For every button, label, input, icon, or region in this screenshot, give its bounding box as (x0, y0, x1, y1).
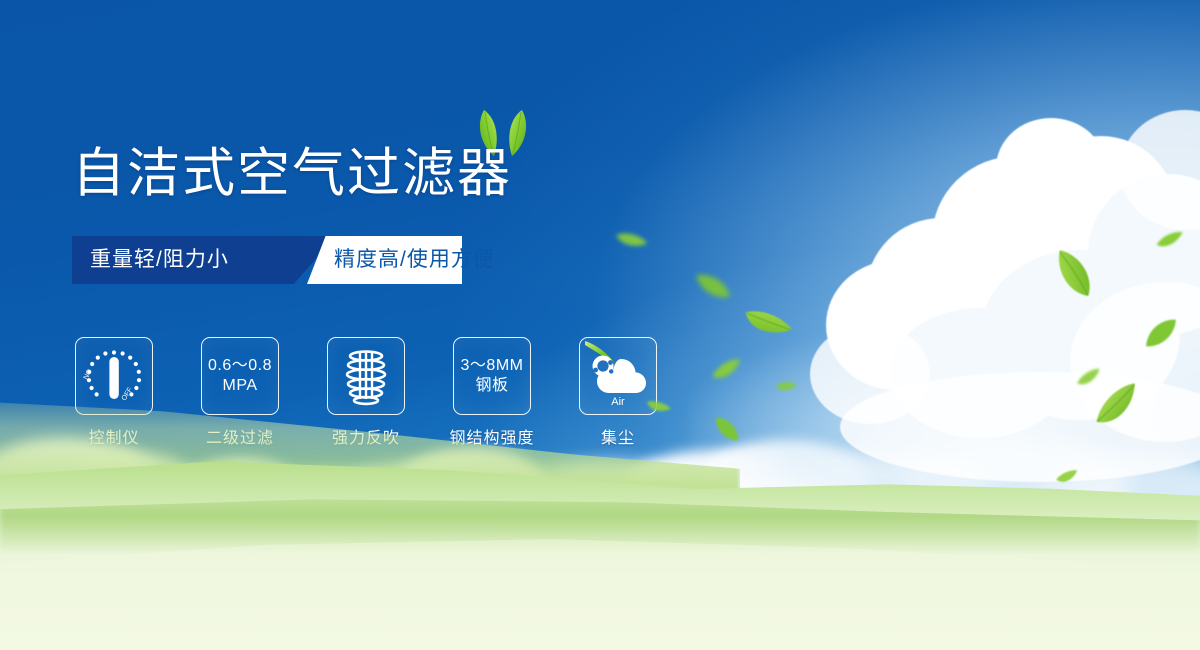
blowback-spiral-icon (327, 337, 405, 415)
feature-label: 集尘 (601, 424, 635, 448)
feature-item-steel-structure-strength[interactable]: 3～8MM 钢板 钢结构强度 (454, 337, 530, 448)
steel-plate-text-icon: 3～8MM 钢板 (453, 337, 531, 415)
page-title: 自洁式空气过滤器 (72, 143, 512, 205)
cloud-air-caption: Air (611, 396, 625, 408)
feature-item-dust-collection[interactable]: Air 集尘 (580, 337, 656, 448)
subtitle-bar: 重量轻/阻力小 精度高/使用方便 (72, 236, 462, 284)
subtitle-left-text: 重量轻/阻力小 (90, 236, 229, 284)
steel-thickness: 3～8MM (461, 356, 524, 376)
subtitle-right-text: 精度高/使用方便 (334, 236, 495, 284)
product-banner: 自洁式空气过滤器 重量轻/阻力小 精度高/使用方便 (0, 0, 1200, 650)
gauge-no-label: NO (83, 368, 94, 381)
cumulus-cloud (820, 100, 1200, 430)
steel-material: 钢板 (461, 376, 524, 396)
pressure-unit: MPA (208, 376, 272, 396)
gauge-icon: NO OFF (75, 337, 153, 415)
pressure-text-icon: 0.6～0.8 MPA (201, 337, 279, 415)
pressure-value: 0.6～0.8 (208, 356, 272, 376)
